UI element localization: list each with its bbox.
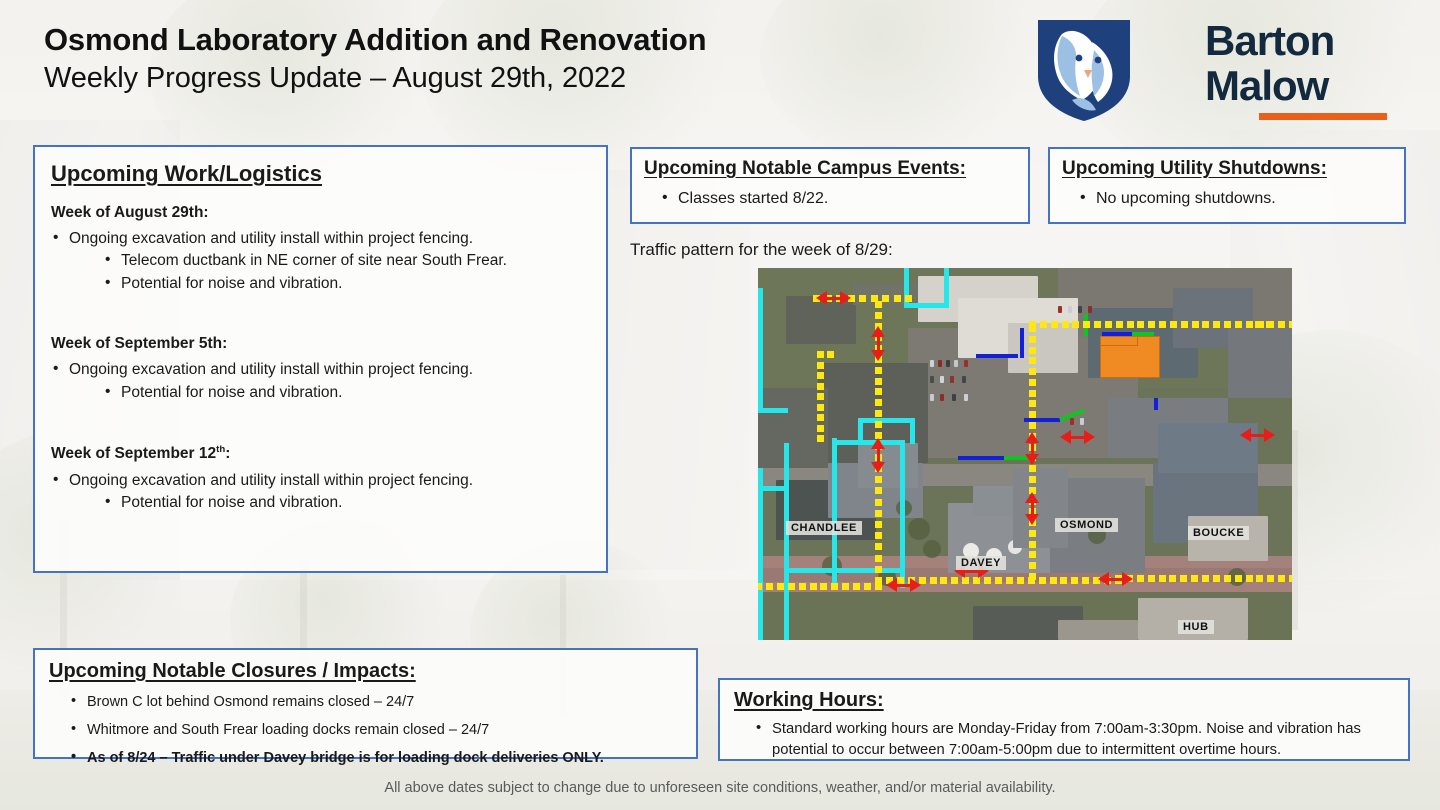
map-building-label-chandlee: CHANDLEE — [786, 521, 862, 535]
work-group-week2: Week of September 5th: Ongoing excavatio… — [51, 335, 588, 404]
vehicle-route-dot — [820, 583, 827, 590]
vehicle-route-dot — [962, 577, 969, 584]
closures-impacts-panel: Upcoming Notable Closures / Impacts: Bro… — [33, 648, 698, 759]
utility-shutdowns-heading: Upcoming Utility Shutdowns: — [1062, 158, 1327, 180]
vehicle-route-dot — [1116, 321, 1123, 328]
vehicle-route-dot — [817, 372, 824, 379]
vehicle-route-dot — [1017, 577, 1024, 584]
vehicle-route-dot — [1050, 577, 1057, 584]
vehicle-route-dot — [1127, 321, 1134, 328]
vehicle-route-dot — [995, 577, 1002, 584]
vehicle-route-dot — [1029, 390, 1036, 397]
vehicle-route-dot — [817, 393, 824, 400]
vehicle-route-dot — [1148, 321, 1155, 328]
vehicle-route-dot — [1083, 321, 1090, 328]
vehicle-route-dot — [1278, 321, 1285, 328]
vehicle-route-dot — [810, 583, 817, 590]
week3-label-prefix: Week of September 12 — [51, 446, 216, 463]
vehicle-route-dot — [905, 295, 912, 302]
vehicle-route-dot — [875, 312, 882, 319]
vehicle-route-dot — [940, 577, 947, 584]
vehicle-route-dot — [875, 499, 882, 506]
vehicle-route-dot — [1072, 321, 1079, 328]
vehicle-route-dot — [1040, 321, 1047, 328]
vehicle-route-dot — [853, 583, 860, 590]
vehicle-route-dot — [1169, 575, 1176, 582]
vehicle-route-dot — [875, 521, 882, 528]
vehicle-route-dot — [799, 583, 806, 590]
vehicle-route-dot — [1029, 562, 1036, 569]
vehicle-route-dot — [1029, 422, 1036, 429]
vehicle-route-dot — [875, 532, 882, 539]
disclaimer-footer: All above dates subject to change due to… — [0, 780, 1440, 796]
vehicle-route-dot — [951, 577, 958, 584]
vehicle-route-dot — [930, 577, 937, 584]
barton-malow-orange-bar — [1259, 113, 1387, 120]
vehicle-route-dot — [875, 410, 882, 417]
work-sub-bullet: Potential for noise and vibration. — [103, 492, 588, 514]
utility-shutdowns-panel: Upcoming Utility Shutdowns: No upcoming … — [1048, 147, 1406, 224]
working-hours-bullet: Standard working hours are Monday-Friday… — [754, 719, 1394, 761]
working-hours-heading: Working Hours: — [734, 689, 884, 712]
vehicle-route-dot — [1105, 321, 1112, 328]
vehicle-route-dot — [1289, 321, 1292, 328]
vehicle-route-dot — [817, 383, 824, 390]
vehicle-route-dot — [1029, 336, 1036, 343]
vehicle-route-dot — [875, 555, 882, 562]
map-building-label-hub: HUB — [1178, 620, 1214, 634]
vehicle-route-dot — [817, 362, 824, 369]
map-building-label-osmond: OSMOND — [1055, 518, 1118, 532]
vehicle-route-dot — [1267, 575, 1274, 582]
work-group-week3-label: Week of September 12th: — [51, 444, 588, 463]
direction-arrow-down — [1025, 454, 1039, 465]
vehicle-route-dot — [864, 583, 871, 590]
vehicle-route-dot — [1082, 577, 1089, 584]
vehicle-route-dot — [875, 388, 882, 395]
vehicle-route-dot — [1256, 575, 1263, 582]
vehicle-route-dot — [831, 583, 838, 590]
vehicle-route-dot — [875, 301, 882, 308]
vehicle-route-dot — [817, 435, 824, 442]
vehicle-route-dot — [1029, 465, 1036, 472]
vehicle-route-dot — [1071, 577, 1078, 584]
work-sub-bullet: Telecom ductbank in NE corner of site ne… — [103, 250, 588, 272]
direction-arrow-right — [910, 578, 921, 592]
vehicle-route-dot — [875, 476, 882, 483]
vehicle-route-dot — [1029, 573, 1036, 580]
vehicle-route-dot — [1029, 368, 1036, 375]
vehicle-route-dot — [1029, 476, 1036, 483]
vehicle-route-dot — [1137, 575, 1144, 582]
vehicle-route-dot — [1191, 575, 1198, 582]
work-bullet: Ongoing excavation and utility install w… — [51, 359, 588, 381]
upcoming-work-heading: Upcoming Work/Logistics — [51, 161, 322, 187]
vehicle-route-dot — [875, 583, 882, 590]
vehicle-route-dot — [1029, 541, 1036, 548]
vehicle-route-dot — [875, 421, 882, 428]
vehicle-route-dot — [875, 399, 882, 406]
campus-events-panel: Upcoming Notable Campus Events: Classes … — [630, 147, 1030, 224]
work-bullet: Ongoing excavation and utility install w… — [51, 228, 588, 250]
map-caption: Traffic pattern for the week of 8/29: — [630, 240, 893, 260]
vehicle-route-dot — [1246, 575, 1253, 582]
vehicle-route-dot — [875, 510, 882, 517]
closure-bullet: Brown C lot behind Osmond remains closed… — [69, 692, 682, 713]
vehicle-route-dot — [1266, 321, 1273, 328]
week3-label-suffix: : — [225, 446, 230, 463]
vehicle-route-dot — [788, 583, 795, 590]
construction-zone-marker — [1100, 336, 1138, 346]
vehicle-route-dot — [875, 487, 882, 494]
vehicle-route-dot — [1202, 321, 1209, 328]
barton-malow-line-1: Barton — [1205, 22, 1387, 61]
vehicle-route-dot — [817, 414, 824, 421]
page-title: Osmond Laboratory Addition and Renovatio… — [44, 22, 706, 96]
vehicle-route-dot — [1029, 379, 1036, 386]
vehicle-route-dot — [1029, 347, 1036, 354]
vehicle-route-dot — [984, 577, 991, 584]
direction-arrow-right — [1084, 430, 1095, 444]
campus-events-bullet: Classes started 8/22. — [660, 187, 1016, 210]
vehicle-route-dot — [1170, 321, 1177, 328]
title-line-1: Osmond Laboratory Addition and Renovatio… — [44, 22, 706, 59]
vehicle-route-dot — [1235, 575, 1242, 582]
barton-malow-logo: Barton Malow — [1205, 22, 1387, 114]
vehicle-route-dot — [1094, 321, 1101, 328]
vehicle-route-dot — [1180, 575, 1187, 582]
traffic-pattern-aerial-map: CHANDLEE DAVEY OSMOND BOUCKE HUB — [758, 268, 1292, 640]
title-line-2: Weekly Progress Update – August 29th, 20… — [44, 61, 706, 96]
direction-arrow-down — [871, 350, 885, 361]
vehicle-route-dot — [817, 425, 824, 432]
vehicle-route-dot — [1006, 577, 1013, 584]
work-sub-bullet: Potential for noise and vibration. — [103, 382, 588, 404]
vehicle-route-dot — [1039, 577, 1046, 584]
work-group-week1: Week of August 29th: Ongoing excavation … — [51, 204, 588, 295]
vehicle-route-dot — [875, 566, 882, 573]
vehicle-route-dot — [1246, 321, 1253, 328]
vehicle-route-dot — [1278, 575, 1285, 582]
vehicle-route-dot — [842, 583, 849, 590]
vehicle-route-dot — [1159, 321, 1166, 328]
vehicle-route-dot — [1060, 577, 1067, 584]
closure-bullet: As of 8/24 – Traffic under Davey bridge … — [69, 748, 682, 769]
vehicle-route-dot — [1289, 575, 1292, 582]
vehicle-route-dot — [875, 577, 882, 584]
vehicle-route-dot — [1159, 575, 1166, 582]
work-group-week2-label: Week of September 5th: — [51, 335, 588, 353]
map-building-label-boucke: BOUCKE — [1188, 526, 1249, 540]
vehicle-route-dot — [875, 543, 882, 550]
vehicle-route-dot — [1224, 321, 1231, 328]
vehicle-route-dot — [766, 583, 773, 590]
vehicle-route-dot — [897, 577, 904, 584]
vehicle-route-dot — [875, 367, 882, 374]
work-group-week3: Week of September 12th: Ongoing excavati… — [51, 444, 588, 514]
vehicle-route-dot — [1029, 321, 1036, 328]
vehicle-route-dot — [894, 295, 901, 302]
vehicle-route-dot — [882, 295, 889, 302]
direction-arrow-right — [840, 291, 851, 305]
penn-state-shield-icon — [1032, 14, 1136, 124]
upcoming-work-panel: Upcoming Work/Logistics Week of August 2… — [33, 145, 608, 573]
closures-heading: Upcoming Notable Closures / Impacts: — [49, 660, 416, 683]
campus-events-heading: Upcoming Notable Campus Events: — [644, 158, 966, 180]
vehicle-route-dot — [1255, 321, 1262, 328]
vehicle-route-dot — [1029, 400, 1036, 407]
work-sub-bullet: Potential for noise and vibration. — [103, 273, 588, 295]
week3-label-superscript: th — [216, 444, 225, 455]
vehicle-route-dot — [859, 295, 866, 302]
vehicle-route-dot — [1192, 321, 1199, 328]
direction-arrow-right — [1122, 572, 1133, 586]
vehicle-route-dot — [1029, 530, 1036, 537]
vehicle-route-dot — [1029, 357, 1036, 364]
vehicle-route-dot — [1224, 575, 1231, 582]
vehicle-route-dot — [1029, 551, 1036, 558]
vehicle-route-dot — [1051, 321, 1058, 328]
vehicle-route-dot — [827, 351, 834, 358]
vehicle-route-dot — [817, 404, 824, 411]
barton-malow-line-2: Malow — [1205, 67, 1387, 106]
vehicle-route-dot — [817, 351, 824, 358]
utility-shutdowns-bullet: No upcoming shutdowns. — [1078, 187, 1392, 210]
closure-bullet: Whitmore and South Frear loading docks r… — [69, 720, 682, 741]
vehicle-route-dot — [1148, 575, 1155, 582]
vehicle-route-dot — [1202, 575, 1209, 582]
vehicle-route-dot — [1029, 411, 1036, 418]
vehicle-route-dot — [1062, 321, 1069, 328]
map-building-label-davey: DAVEY — [956, 556, 1006, 570]
work-bullet: Ongoing excavation and utility install w… — [51, 470, 588, 492]
working-hours-panel: Working Hours: Standard working hours ar… — [718, 678, 1410, 761]
vehicle-route-dot — [973, 577, 980, 584]
work-group-week1-label: Week of August 29th: — [51, 204, 588, 222]
direction-arrow-down — [871, 462, 885, 473]
direction-arrow-right — [1264, 428, 1275, 442]
vehicle-route-dot — [1181, 321, 1188, 328]
vehicle-route-dot — [758, 583, 762, 590]
vehicle-route-dot — [777, 583, 784, 590]
vehicle-route-dot — [1213, 321, 1220, 328]
vehicle-route-dot — [1213, 575, 1220, 582]
vehicle-route-dot — [1137, 321, 1144, 328]
direction-arrow-down — [1025, 514, 1039, 525]
vehicle-route-dot — [1235, 321, 1242, 328]
vehicle-route-dot — [875, 378, 882, 385]
